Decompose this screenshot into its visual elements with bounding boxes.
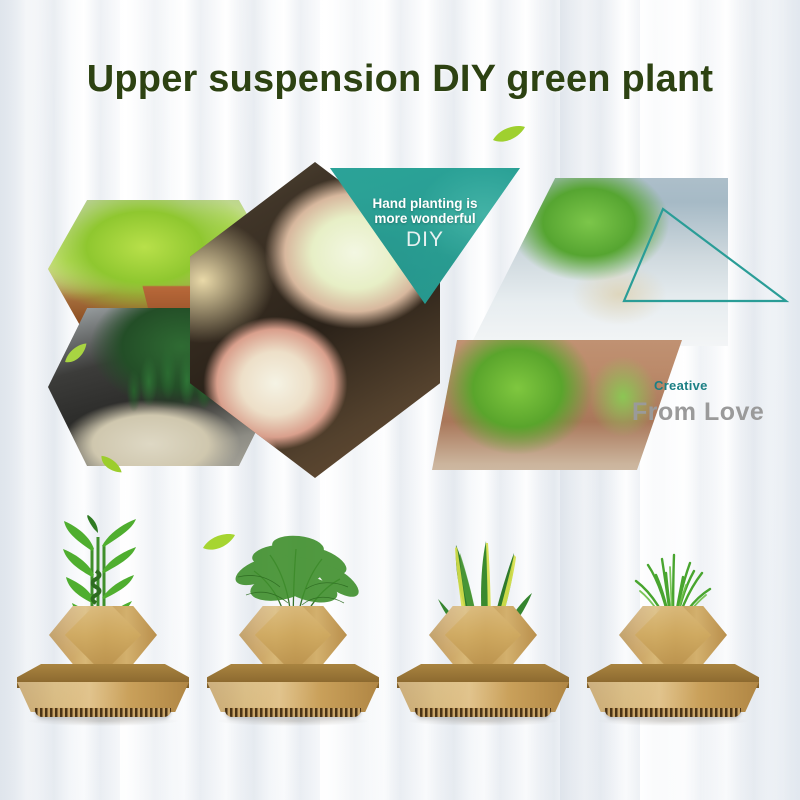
magnetic-base[interactable] [207, 664, 379, 722]
floating-leaf-top-center-icon [492, 124, 526, 151]
levitating-planter-grass[interactable] [578, 510, 768, 760]
base-vent-strip [415, 708, 551, 717]
levitating-planter-lucky-bamboo[interactable] [8, 510, 198, 760]
outline-triangle [620, 205, 790, 305]
caption-hand-planting: Hand planting is more wonderful [330, 196, 520, 226]
product-poster: Upper suspension DIY green plant [0, 0, 800, 800]
magnetic-base[interactable] [587, 664, 759, 722]
magnetic-base[interactable] [17, 664, 189, 722]
levitating-planter-asparagus-fern[interactable] [198, 510, 388, 760]
base-vent-strip [35, 708, 171, 717]
poster-title: Upper suspension DIY green plant [0, 58, 800, 101]
base-vent-strip [225, 708, 361, 717]
levitating-planter-snake-plant[interactable] [388, 510, 578, 760]
caption-diy: DIY [330, 228, 520, 252]
caption-line-2: more wonderful [330, 211, 520, 226]
caption-from-love: From Love [632, 398, 764, 427]
caption-line-1: Hand planting is [330, 196, 520, 211]
caption-creative: Creative [654, 378, 708, 393]
magnetic-base[interactable] [397, 664, 569, 722]
base-vent-strip [605, 708, 741, 717]
